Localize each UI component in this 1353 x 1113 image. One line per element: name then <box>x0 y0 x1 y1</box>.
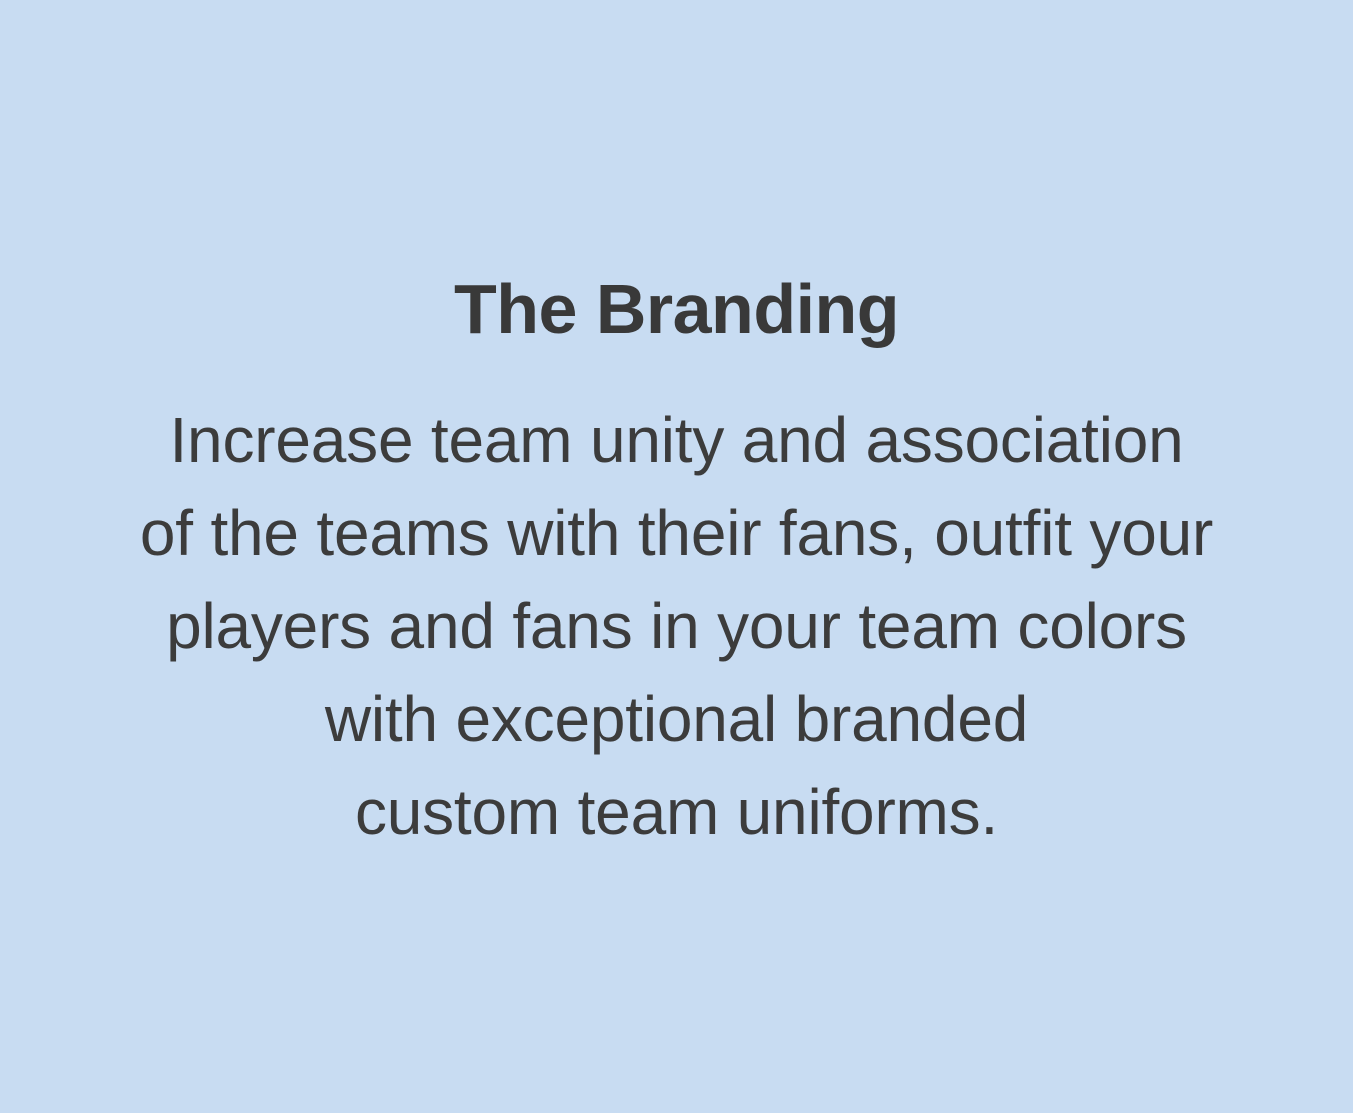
body-line-1: Increase team unity and association <box>77 394 1277 487</box>
body-line-2: of the teams with their fans, outfit you… <box>77 487 1277 580</box>
page-title: The Branding <box>454 274 899 344</box>
body-paragraph: Increase team unity and association of t… <box>77 394 1277 859</box>
body-line-5: custom team uniforms. <box>77 766 1277 859</box>
body-line-4: with exceptional branded <box>77 673 1277 766</box>
slide-canvas: The Branding Increase team unity and ass… <box>0 0 1353 1113</box>
body-line-3: players and fans in your team colors <box>77 580 1277 673</box>
text-content-block: The Branding Increase team unity and ass… <box>0 274 1353 859</box>
